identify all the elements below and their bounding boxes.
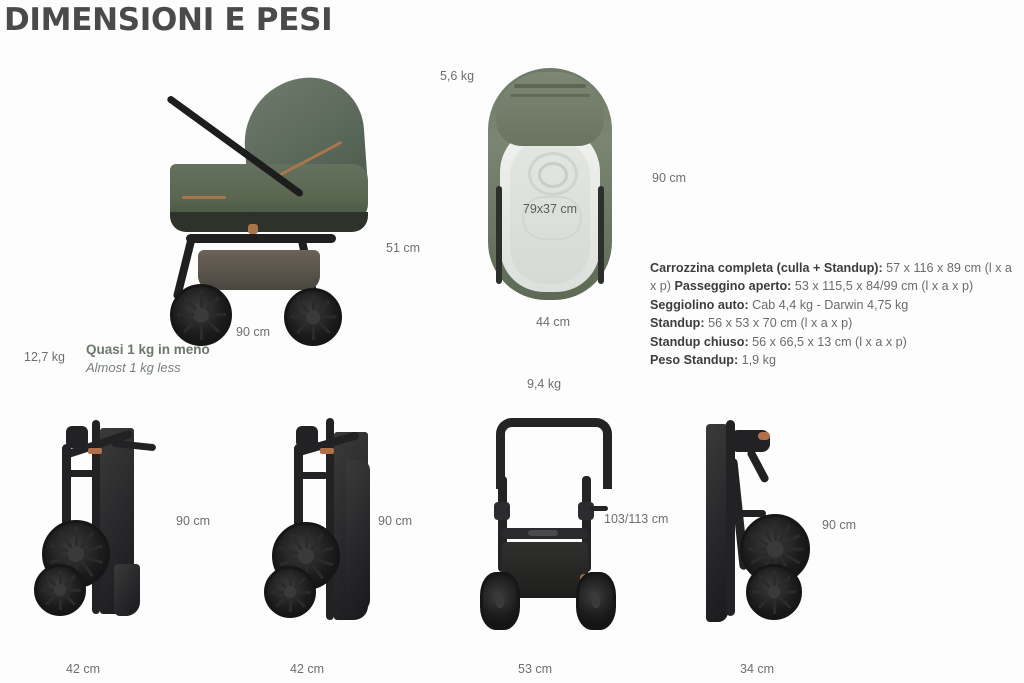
folded-handle-joint [296, 426, 318, 448]
folded-2-height-label: 90 cm [378, 514, 412, 528]
pram-front-wheel [170, 284, 232, 346]
bassinet-head-ring-inner [538, 162, 568, 188]
highlight-main-text: Quasi 1 kg in meno [86, 341, 210, 359]
folded-2-width-label: 42 cm [290, 662, 324, 676]
spec-value: 1,9 kg [742, 353, 776, 367]
folded-small-wheel [264, 566, 316, 618]
chassis-cross-slot [528, 530, 558, 536]
chassis-front-view-image [480, 414, 610, 630]
pram-height-label: 51 cm [386, 241, 420, 255]
spec-row: Seggiolino auto: Cab 4,4 kg - Darwin 4,7… [650, 296, 1020, 314]
folded-copper-accent [320, 448, 334, 454]
spec-value: Cab 4,4 kg - Darwin 4,75 kg [752, 298, 908, 312]
spec-label: Standup chiuso: [650, 335, 749, 349]
spec-row: Carrozzina completa (culla + Standup): 5… [650, 259, 1020, 296]
folded-small-wheel [746, 564, 802, 620]
folded-small-wheel [34, 564, 86, 616]
folded-side-panel [706, 424, 728, 622]
spec-value: 56 x 66,5 x 13 cm (l x a x p) [752, 335, 907, 349]
chassis-height-lever [590, 506, 608, 511]
bassinet-width-label: 44 cm [536, 315, 570, 329]
pram-side-view-image [152, 72, 382, 322]
folded-stroller-left-image [26, 414, 176, 630]
pram-frame-hinge [248, 224, 258, 234]
folded-1-height-label: 90 cm [176, 514, 210, 528]
chassis-weight-label: 9,4 kg [527, 377, 561, 391]
folded-3-width-label: 53 cm [518, 662, 552, 676]
spec-label: Standup: [650, 316, 705, 330]
chassis-handlebar [496, 418, 612, 489]
spec-label: Peso Standup: [650, 353, 738, 367]
bassinet-top-view-image: 79x37 cm [488, 68, 612, 300]
chassis-left-wheel [480, 572, 520, 630]
folded-diagonal-brace [746, 448, 770, 484]
pram-bassinet-base [170, 212, 368, 232]
pram-frame-bar [186, 234, 336, 243]
folded-compact-view-image [700, 414, 830, 630]
folded-cross-brace [64, 470, 98, 477]
spec-row: Standup: 56 x 53 x 70 cm (l x a x p) [650, 314, 1020, 332]
page-title: DIMENSIONI E PESI [4, 2, 332, 38]
bassinet-weight-label: 5,6 kg [440, 69, 474, 83]
spec-label: Passeggino aperto: [675, 279, 792, 293]
folded-1-width-label: 42 cm [66, 662, 100, 676]
bassinet-left-rail [496, 186, 502, 284]
folded-handle-joint [66, 426, 88, 448]
spec-label: Carrozzina completa (culla + Standup): [650, 261, 883, 275]
bassinet-height-label: 90 cm [652, 171, 686, 185]
folded-copper-accent [758, 432, 770, 440]
pram-trim-accent [182, 196, 226, 199]
chassis-right-joint [578, 502, 594, 520]
spec-row: Peso Standup: 1,9 kg [650, 351, 1020, 369]
spec-label: Seggiolino auto: [650, 298, 749, 312]
folded-4-width-label: 34 cm [740, 662, 774, 676]
total-weight-label: 12,7 kg [24, 350, 65, 364]
pram-rear-wheel [284, 288, 342, 346]
spec-value: 53 x 115,5 x 84/99 cm (l x a x p) [795, 279, 973, 293]
bassinet-inner-dimension-label: 79x37 cm [488, 202, 612, 216]
specifications-list: Carrozzina completa (culla + Standup): 5… [650, 259, 1020, 369]
bassinet-right-rail [598, 186, 604, 284]
pram-storage-basket [198, 250, 320, 290]
chassis-right-wheel [576, 572, 616, 630]
folded-canopy-fabric [114, 564, 140, 616]
highlight-sub-text: Almost 1 kg less [86, 359, 210, 376]
spec-value: 56 x 53 x 70 cm (l x a x p) [708, 316, 852, 330]
spec-row: Standup chiuso: 56 x 66,5 x 13 cm (l x a… [650, 333, 1020, 351]
bassinet-hood-seam-2 [510, 94, 590, 97]
folded-cross-brace [296, 472, 328, 479]
pram-width-label: 90 cm [236, 325, 270, 339]
folded-3-height-label: 103/113 cm [604, 512, 668, 526]
folded-4-height-label: 90 cm [822, 518, 856, 532]
dimensions-and-weights-page: DIMENSIONI E PESI 51 cm 90 cm [0, 0, 1024, 683]
folded-copper-accent [88, 448, 102, 454]
chassis-left-joint [494, 502, 510, 520]
weight-highlight-block: Quasi 1 kg in meno Almost 1 kg less [86, 341, 210, 376]
folded-canopy-fabric [346, 460, 370, 612]
bassinet-hood-seam-1 [514, 84, 586, 88]
